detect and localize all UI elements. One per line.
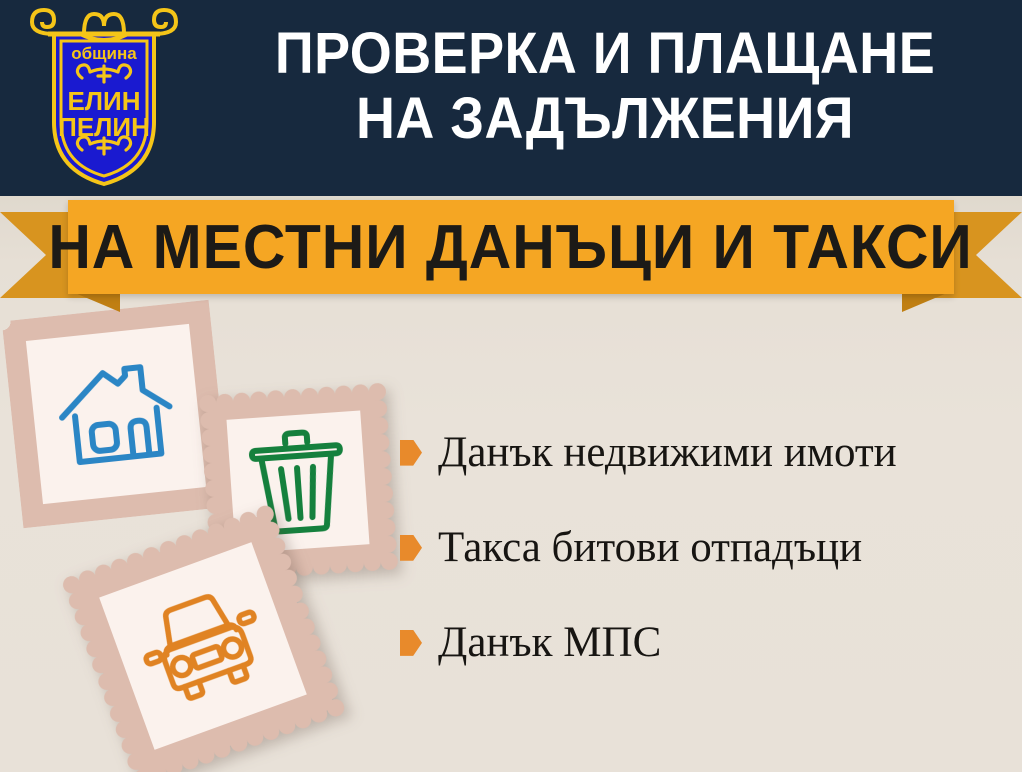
ribbon-subtitle: НА МЕСТНИ ДАНЪЦИ И ТАКСИ (49, 212, 973, 283)
tax-type-list: Данък недвижими имоти Такса битови отпад… (400, 430, 1000, 665)
list-item-label: Данък МПС (438, 620, 661, 665)
bullet-arrow-icon (400, 630, 422, 656)
logo-line-top: община (71, 44, 137, 63)
poster: община ЕЛИН ПЕЛИН ПРОВЕРКА И ПЛАЩАНЕ НА … (0, 0, 1022, 772)
municipality-logo: община ЕЛИН ПЕЛИН (22, 4, 186, 190)
list-item[interactable]: Данък МПС (400, 620, 1000, 665)
list-item-label: Такса битови отпадъци (438, 525, 862, 570)
list-item[interactable]: Такса битови отпадъци (400, 525, 1000, 570)
ribbon-banner: НА МЕСТНИ ДАНЪЦИ И ТАКСИ (0, 196, 1022, 308)
ribbon-band: НА МЕСТНИ ДАНЪЦИ И ТАКСИ (68, 200, 954, 294)
bullet-arrow-icon (400, 440, 422, 466)
logo-line-bottom: ПЕЛИН (58, 112, 150, 142)
header-banner: община ЕЛИН ПЕЛИН ПРОВЕРКА И ПЛАЩАНЕ НА … (0, 0, 1022, 196)
stamp-paper-house (26, 324, 206, 504)
bullet-arrow-icon (400, 535, 422, 561)
page-title: ПРОВЕРКА И ПЛАЩАНЕ НА ЗАДЪЛЖЕНИЯ (219, 22, 991, 152)
stamp-card-house (2, 300, 231, 529)
car-front-icon (129, 578, 278, 714)
list-item-label: Данък недвижими имоти (438, 430, 897, 475)
stamp-paper-car (99, 542, 307, 750)
house-icon (52, 354, 181, 474)
list-item[interactable]: Данък недвижими имоти (400, 430, 1000, 475)
